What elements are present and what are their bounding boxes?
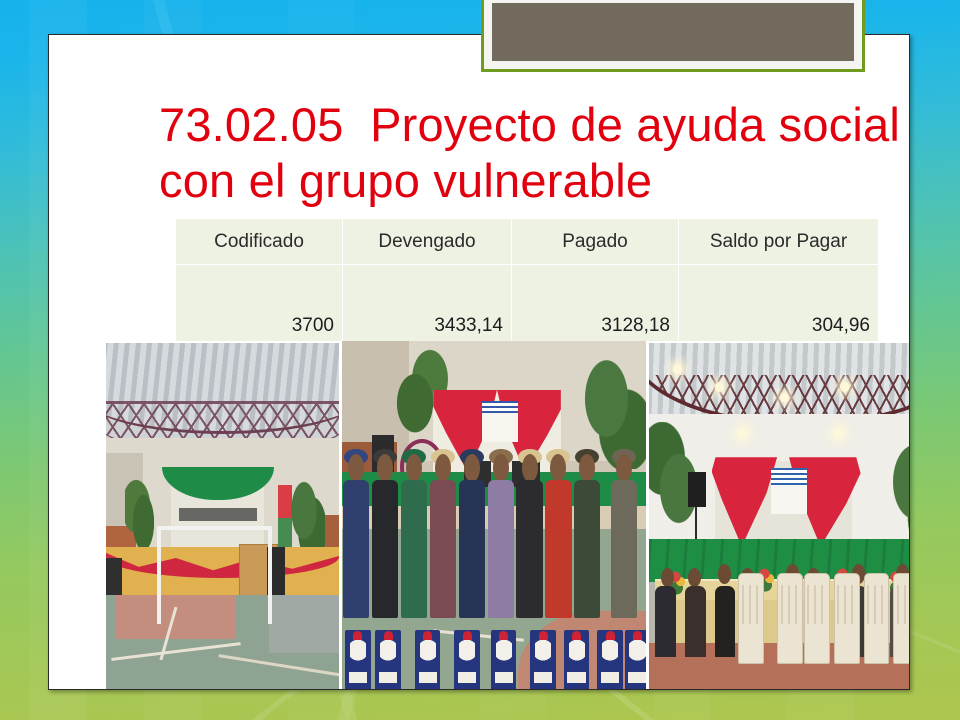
photo2-person-head: [377, 454, 393, 482]
photo2-person-body: [372, 480, 398, 619]
photo3-plant-right: [875, 414, 910, 550]
photo2-gift-box-top: [463, 631, 472, 640]
table-header-row: Codificado Devengado Pagado Saldo por Pa…: [176, 219, 879, 265]
photo2-person: [400, 454, 429, 619]
photo2-person-head: [616, 454, 632, 482]
slide-content-card: 73.02.05 Proyecto de ayuda social con el…: [48, 34, 910, 690]
photo3-speaker: [688, 472, 706, 508]
photo2-person: [573, 454, 602, 619]
photo2-gift-box: [491, 630, 517, 690]
photo2-person: [342, 454, 371, 619]
photo2-gift-box-top: [633, 631, 642, 640]
photo2-gift-box: [597, 630, 623, 690]
photo2-gift-box-top: [423, 631, 432, 640]
photo1-flag: [278, 485, 292, 551]
photo2-person-body: [401, 480, 427, 619]
column-header-devengado: Devengado: [343, 219, 512, 265]
photo2-gift-box-top: [606, 631, 615, 640]
photo2-person-body: [459, 480, 485, 619]
photo2-gift-box: [415, 630, 441, 690]
photo2-gift-box-top: [353, 631, 362, 640]
photo1-floor-grey-zone: [269, 595, 339, 653]
photo-beneficiaries-with-gift-boxes: [342, 341, 646, 690]
slide-title: 73.02.05 Proyecto de ayuda social con el…: [159, 97, 910, 209]
photo2-gift-box-top: [384, 631, 393, 640]
photo2-person-head: [464, 454, 480, 482]
photo3-guest-head: [661, 568, 674, 587]
photo2-person-body: [545, 480, 571, 619]
photo2-person-body: [574, 480, 600, 619]
table-row: 3700 3433,14 3128,18 304,96: [176, 265, 879, 342]
photo2-person-body: [611, 480, 637, 619]
photo3-chair: [893, 573, 910, 664]
photo2-gift-box: [345, 630, 371, 690]
photo3-guest: [685, 586, 706, 657]
financial-table: Codificado Devengado Pagado Saldo por Pa…: [175, 218, 879, 342]
photo2-person: [486, 454, 515, 619]
photo2-gift-box: [564, 630, 590, 690]
photo2-gift-box-top: [539, 631, 548, 640]
cell-devengado: 3433,14: [343, 265, 512, 342]
photo2-person: [515, 454, 544, 619]
picture-placeholder-fill: [492, 3, 854, 61]
photo2-person-body: [343, 480, 369, 619]
photo2-gift-box: [530, 630, 556, 690]
photo2-gift-box: [454, 630, 480, 690]
photo2-plant-right: [567, 341, 646, 469]
photo3-light: [834, 429, 843, 438]
photo2-banner: [482, 401, 518, 442]
photo2-gift-box: [625, 630, 646, 690]
photo2-person: [458, 454, 487, 619]
photo2-gift-box-top: [499, 631, 508, 640]
column-header-saldo-por-pagar: Saldo por Pagar: [679, 219, 879, 265]
cell-codificado: 3700: [176, 265, 343, 342]
photo2-person: [610, 454, 639, 619]
financial-table-wrapper: Codificado Devengado Pagado Saldo por Pa…: [175, 218, 878, 342]
photo2-person: [544, 454, 573, 619]
photo3-light: [840, 382, 849, 391]
photo3-guest: [655, 586, 676, 657]
photo1-goal-frame: [157, 526, 272, 625]
photo2-person-body: [488, 480, 514, 619]
photo3-chair: [777, 573, 803, 664]
photo2-person-body: [516, 480, 542, 619]
photo-hall-stage: [106, 343, 339, 690]
photo2-person-head: [435, 454, 451, 482]
cell-saldo-por-pagar: 304,96: [679, 265, 879, 342]
photo2-person: [371, 454, 400, 619]
photo2-person-head: [493, 454, 509, 482]
column-header-codificado: Codificado: [176, 219, 343, 265]
photo2-person-head: [348, 454, 364, 482]
photo3-guest: [715, 586, 736, 657]
picture-placeholder[interactable]: [481, 0, 865, 72]
photo2-gift-box: [375, 630, 401, 690]
presentation-slide: 73.02.05 Proyecto de ayuda social con el…: [0, 0, 960, 720]
photo1-goal-crossbar: [157, 526, 264, 530]
photo2-person-head: [579, 454, 595, 482]
photo3-light: [715, 382, 724, 391]
photo3-guest-head: [688, 568, 701, 587]
photo-banquet-tables: [649, 343, 910, 690]
photo3-chair: [864, 573, 890, 664]
photo3-banner: [771, 468, 807, 514]
photo2-gift-box-top: [572, 631, 581, 640]
photo3-chair: [834, 573, 860, 664]
photo2-person: [429, 454, 458, 619]
photo3-chair: [804, 573, 830, 664]
photo3-chair: [738, 573, 764, 664]
column-header-pagado: Pagado: [512, 219, 679, 265]
photo2-person-head: [406, 454, 422, 482]
photo3-guest-head: [718, 564, 731, 583]
photo2-person-body: [430, 480, 456, 619]
photo3-light: [673, 364, 682, 373]
cell-pagado: 3128,18: [512, 265, 679, 342]
photo2-person-head: [522, 454, 538, 482]
